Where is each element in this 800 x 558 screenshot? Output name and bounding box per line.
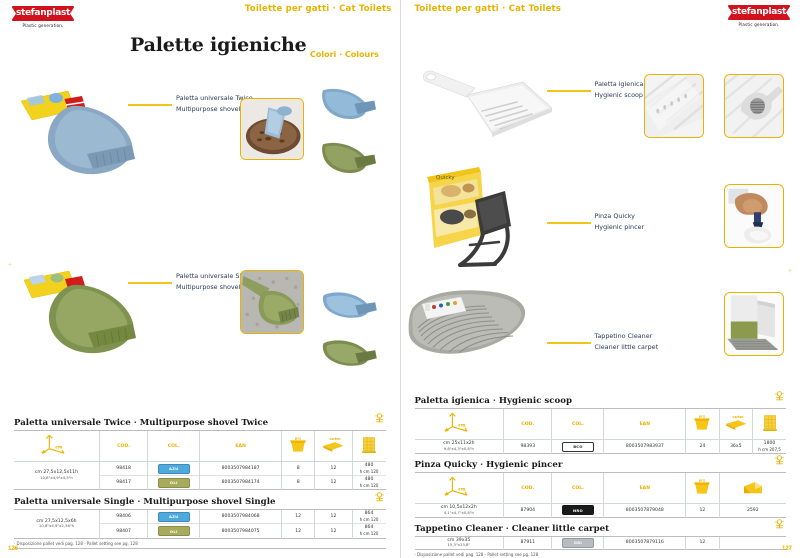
pallet-stack-icon <box>361 435 377 455</box>
callout-rule <box>547 342 591 344</box>
cell-ean: 8003507879116 <box>604 537 686 550</box>
table-row: cm 27,5x12,5x11h 10,8"x4,9"x4,3"h 98418 … <box>14 462 386 476</box>
cell-qty-carton: 12 <box>315 524 352 538</box>
table-title-twice: Paletta universale Twice · Multipurpose … <box>14 418 386 431</box>
pcs-box-icon: pcs <box>288 436 308 454</box>
crop-mark-left: + <box>8 262 14 268</box>
cell-dimension: cm 10,5x12x2h 4,1"x4,7"x0,8"h <box>415 504 504 517</box>
table-row: cm 27,5x12,5x6h 10,8"x4,9"x2,36"h 98406 … <box>14 510 386 524</box>
pallet-stack-icon <box>762 413 778 433</box>
cell-pallet: 480 h cm 120 <box>352 476 385 490</box>
colour-variant-single-azure <box>316 282 380 324</box>
pcs-carton-icon <box>741 478 765 496</box>
callout-rule <box>128 282 172 284</box>
cell-pallet: 1800 h cm 207,5 <box>753 440 786 454</box>
cell-code: 98417 <box>99 476 147 490</box>
cell-qty-carton: 12 <box>315 462 352 476</box>
cell-qty-box: 12 <box>686 504 719 517</box>
dimension-inch: 4,1"x4,7"x0,8"h <box>415 511 504 516</box>
right-footnote: · Disposizione pallet vedi pag. 128 - Pa… <box>415 552 787 558</box>
header-pcs-box: pcs <box>686 473 719 504</box>
spec-table-twice: cm COD. COL. EAN pcs <box>14 431 386 490</box>
cell-code: 98407 <box>99 524 147 538</box>
pallet-icon <box>773 389 786 402</box>
header-pallet <box>352 431 385 462</box>
cell-ean: 8003507879048 <box>604 504 686 517</box>
cell-colour: BCO <box>552 440 604 454</box>
cell-qty-box: 24 <box>686 440 719 454</box>
header-pcs-carton: carton <box>719 409 752 440</box>
cell-qty-carton: 12 <box>315 510 352 524</box>
spec-table-pincer: cm COD. COL. EAN pcs <box>415 473 787 517</box>
cell-code: 87904 <box>504 504 552 517</box>
callout-rule <box>128 104 172 106</box>
product-name-en: Cleaner little carpet <box>595 343 659 351</box>
header-colour: COL. <box>148 431 200 462</box>
shovel-olive-icon <box>316 136 380 178</box>
cell-qty-box: 8 <box>281 476 314 490</box>
page-title: Palette igieniche <box>130 34 307 56</box>
cell-colour: OLI <box>148 476 200 490</box>
photo-frame-pincer-hand <box>724 184 784 248</box>
product-hero-single <box>14 265 146 361</box>
pallet-qty: 1800 <box>764 441 776 446</box>
right-header-category: Toilette per gatti · Cat Toilets <box>415 4 562 14</box>
cell-colour: AZU <box>148 462 200 476</box>
pallet-qty: 864 <box>365 525 374 530</box>
left-footnote: · Disposizione pallet vedi pag. 128 - Pa… <box>14 541 386 549</box>
cell-pallet: 864 h cm 120 <box>352 524 385 538</box>
dimension-icon: cm <box>39 432 73 458</box>
cell-colour: NRO <box>552 504 604 517</box>
product-name-it: Pinza Quicky <box>595 212 635 220</box>
header-ean: EAN <box>604 409 686 440</box>
left-page-number: 126 <box>8 546 18 552</box>
right-page: Toilette per gatti · Cat Toilets stefanp… <box>400 0 800 558</box>
header-code: COD. <box>504 409 552 440</box>
pallet-height: h cm 120 <box>353 517 386 522</box>
spec-table-carpet: cm 39x35 15,3"x13,8" 87911 GRI 800350787… <box>415 537 787 550</box>
cell-qty-box: 12 <box>281 510 314 524</box>
table-header-row: cm COD. COL. EAN pcs <box>415 473 787 504</box>
brand-logo-name: stefanplast <box>728 5 790 20</box>
dimension-inch: 15,3"x13,8" <box>415 543 504 548</box>
cell-code: 98393 <box>504 440 552 454</box>
pallet-icon <box>773 453 786 466</box>
header-pcs-box: pcs <box>686 409 719 440</box>
header-dimension: cm <box>415 473 504 504</box>
table-header-row: cm COD. COL. EAN pcs <box>415 409 787 440</box>
cell-colour: AZU <box>148 510 200 524</box>
carpet-under-litterbox-photo <box>725 293 783 355</box>
cell-colour: GRI <box>552 537 604 550</box>
colour-swatch: NRO <box>562 505 594 515</box>
cell-qty-carton: 12 <box>315 476 352 490</box>
brand-tagline: Plastic generation. <box>728 22 790 27</box>
brand-logo-name: stefanplast <box>12 6 74 21</box>
svg-text:cm: cm <box>458 424 466 429</box>
colour-swatch: AZU <box>158 464 190 474</box>
header-dimension: cm <box>415 409 504 440</box>
svg-text:cm: cm <box>56 446 64 451</box>
table-title-text: Paletta igienica · Hygienic scoop <box>415 396 572 406</box>
header-pallet <box>753 409 786 440</box>
photo-frame-single <box>240 270 304 334</box>
cell-qty-carton <box>719 537 786 550</box>
product-hero-carpet <box>405 282 533 366</box>
colour-swatch: OLI <box>158 526 190 536</box>
cell-ean: 8003507984068 <box>200 510 282 524</box>
product-name-it: Paletta igienica <box>595 80 644 88</box>
cell-ean: 8003507984075 <box>200 524 282 538</box>
scoop-slots-detail-photo <box>645 75 703 137</box>
dimension-icon: cm <box>442 474 476 500</box>
crop-mark-right: + <box>788 268 794 274</box>
table-row: cm 25x11x2h 9,8"x4,3"x0,8"h 98393 BCO 80… <box>415 440 787 454</box>
svg-text:pcs: pcs <box>699 479 705 483</box>
header-code: COD. <box>99 431 147 462</box>
cell-qty-carton: 2592 <box>719 504 786 517</box>
spec-table-scoop: cm COD. COL. EAN pcs <box>415 409 787 454</box>
colour-swatch: OLI <box>158 478 190 488</box>
right-tables: Paletta igienica · Hygienic scoop <box>415 396 787 558</box>
header-colour: COL. <box>552 409 604 440</box>
left-page: Toilette per gatti · Cat Toilets stefanp… <box>0 0 400 558</box>
svg-text:carton: carton <box>330 437 341 441</box>
photo-frame-twice <box>240 98 304 160</box>
cell-qty-carton: 36x5 <box>719 440 752 454</box>
colour-swatch: GRI <box>562 538 594 548</box>
pallet-height: h cm 207,5 <box>753 447 786 452</box>
header-pcs-box: pcs <box>281 431 314 462</box>
cell-qty-box: 12 <box>281 524 314 538</box>
product-hero-scoop <box>419 62 559 144</box>
shovel-single-gravel-photo <box>241 271 303 333</box>
product-hero-twice <box>12 84 142 184</box>
table-title-scoop: Paletta igienica · Hygienic scoop <box>415 396 787 409</box>
product-name-en: Hygienic pincer <box>595 223 645 231</box>
cell-ean: 8003507984187 <box>200 462 282 476</box>
cell-ean: 8003507984174 <box>200 476 282 490</box>
pcs-carton-icon: carton <box>321 436 345 454</box>
spec-table-single: cm 27,5x12,5x6h 10,8"x4,9"x2,36"h 98406 … <box>14 510 386 538</box>
pincer-in-hand-photo <box>725 185 783 247</box>
colour-swatch: BCO <box>562 442 594 452</box>
shovel-azure-flat-icon <box>316 282 380 324</box>
pallet-height: h cm 120 <box>353 483 386 488</box>
cell-colour: OLI <box>148 524 200 538</box>
pallet-height: h cm 120 <box>353 531 386 536</box>
cell-dimension: cm 27,5x12,5x6h 10,8"x4,9"x2,36"h <box>14 510 99 538</box>
table-row: cm 39x35 15,3"x13,8" 87911 GRI 800350787… <box>415 537 787 550</box>
hygienic-scoop-white-icon <box>419 62 559 144</box>
colour-variant-single-olive <box>316 330 380 372</box>
pallet-qty: 480 <box>365 477 374 482</box>
header-pcs-carton <box>719 473 786 504</box>
cell-pallet: 864 h cm 120 <box>352 510 385 524</box>
cell-qty-box: 8 <box>281 462 314 476</box>
table-title-text: Pinza Quicky · Hygienic pincer <box>415 460 563 470</box>
left-tables: Paletta universale Twice · Multipurpose … <box>14 418 386 549</box>
pallet-icon <box>373 490 386 503</box>
callout-rule <box>547 222 591 224</box>
cell-dimension: cm 39x35 15,3"x13,8" <box>415 537 504 550</box>
cell-code: 98406 <box>99 510 147 524</box>
photo-frame-carpet-use <box>724 292 784 356</box>
table-title-text: Tappetino Cleaner · Cleaner little carpe… <box>415 524 610 534</box>
table-title-carpet: Tappetino Cleaner · Cleaner little carpe… <box>415 524 787 537</box>
dimension-icon: cm <box>442 410 476 436</box>
svg-text:pcs: pcs <box>699 415 705 419</box>
cell-pallet: 480 h cm 120 <box>352 462 385 476</box>
table-title-text: Paletta universale Single · Multipurpose… <box>14 497 275 507</box>
pincer-quicky-display-box-icon: Quicky <box>421 160 543 278</box>
brand-tagline: Plastic generation. <box>12 23 74 28</box>
pallet-qty: 864 <box>365 511 374 516</box>
svg-text:Quicky: Quicky <box>436 175 455 181</box>
cell-qty-box: 12 <box>686 537 719 550</box>
catalog-spread: Toilette per gatti · Cat Toilets stefanp… <box>0 0 800 558</box>
photo-frame-scoop-hand <box>724 74 784 138</box>
table-title-pincer: Pinza Quicky · Hygienic pincer <box>415 460 787 473</box>
header-code: COD. <box>504 473 552 504</box>
photo-frame-scoop-slots <box>644 74 704 138</box>
table-title-text: Paletta universale Twice · Multipurpose … <box>14 418 268 428</box>
pallet-qty: 480 <box>365 463 374 468</box>
brand-logo-left: stefanplast Plastic generation. <box>12 6 74 28</box>
cell-code: 98418 <box>99 462 147 476</box>
pallet-height: h cm 120 <box>353 469 386 474</box>
cell-code: 87911 <box>504 537 552 550</box>
shovel-olive-flat-icon <box>316 330 380 372</box>
pcs-carton-icon: carton <box>724 414 748 432</box>
colour-swatch: AZU <box>158 512 190 522</box>
cell-dimension: cm 25x11x2h 9,8"x4,3"x0,8"h <box>415 440 504 454</box>
scoop-hand-detail-photo <box>725 75 783 137</box>
header-ean: EAN <box>604 473 686 504</box>
header-pcs-carton: carton <box>315 431 352 462</box>
dimension-inch: 10,8"x4,9"x4,3"h <box>14 476 99 481</box>
left-header-category: Toilette per gatti · Cat Toilets <box>245 4 392 14</box>
header-colour: COL. <box>552 473 604 504</box>
right-page-number: 127 <box>782 546 792 552</box>
shovel-twice-blue-icon <box>12 84 142 184</box>
header-ean: EAN <box>200 431 282 462</box>
brand-logo-right: stefanplast Plastic generation. <box>728 5 790 27</box>
callout-rule <box>547 90 591 92</box>
pallet-icon <box>373 411 386 424</box>
svg-text:pcs: pcs <box>295 437 301 441</box>
pallet-icon <box>773 517 786 530</box>
product-hero-pincer: Quicky <box>421 160 543 278</box>
right-page-header: Toilette per gatti · Cat Toilets stefanp… <box>401 0 800 22</box>
table-header-row: cm COD. COL. EAN pcs <box>14 431 386 462</box>
shovel-azure-icon <box>316 82 380 124</box>
svg-text:cm: cm <box>458 488 466 493</box>
product-name-en: Hygienic scoop <box>595 91 643 99</box>
colour-variant-twice-olive <box>316 136 380 178</box>
product-name-it: Tappetino Cleaner <box>595 332 653 340</box>
colour-variant-twice-azure <box>316 82 380 124</box>
shovel-single-olive-icon <box>14 265 146 361</box>
cell-ean: 8003507983937 <box>604 440 686 454</box>
cell-dimension: cm 27,5x12,5x11h 10,8"x4,9"x4,3"h <box>14 462 99 490</box>
dimension-inch: 9,8"x4,3"x0,8"h <box>415 447 504 452</box>
colours-label: Colori · Colours <box>310 50 379 59</box>
cleaner-carpet-grey-icon <box>405 282 533 366</box>
pcs-box-icon: pcs <box>692 478 712 496</box>
header-dimension: cm <box>14 431 99 462</box>
left-page-header: Toilette per gatti · Cat Toilets stefanp… <box>0 0 400 22</box>
pcs-box-icon: pcs <box>692 414 712 432</box>
table-title-single: Paletta universale Single · Multipurpose… <box>14 497 386 510</box>
table-row: cm 10,5x12x2h 4,1"x4,7"x0,8"h 87904 NRO … <box>415 504 787 517</box>
svg-text:carton: carton <box>732 415 743 419</box>
shovel-in-litter-photo <box>241 99 303 159</box>
dimension-inch: 10,8"x4,9"x2,36"h <box>14 524 99 529</box>
